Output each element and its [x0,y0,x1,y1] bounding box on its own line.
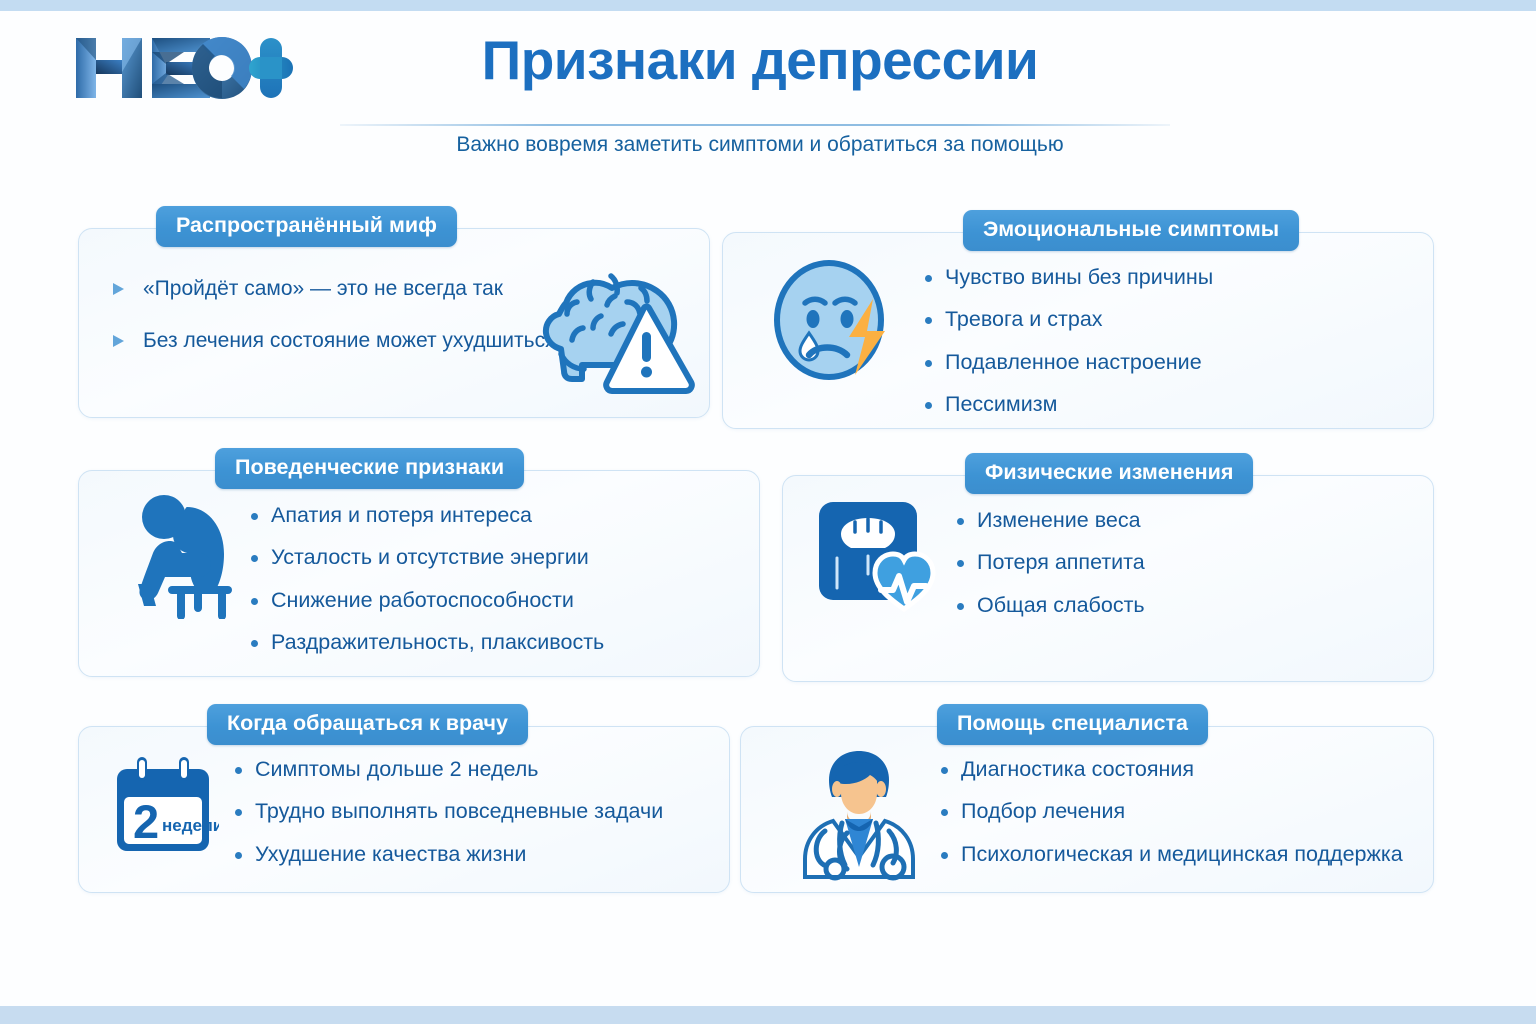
list-item: Пессимизм [923,392,1213,417]
list-item: Чувство вины без причины [923,265,1213,290]
card-physical-list: Изменение веса Потеря аппетита Общая сла… [955,508,1145,618]
list-item: Психологическая и медицинская поддержка [939,842,1403,867]
list-item: Изменение веса [955,508,1145,533]
weight-scale-heart-icon [815,498,943,622]
card-emotional: Эмоциональные симптомы Чувство вины без … [722,232,1434,429]
list-item: Симптомы дольше 2 недель [233,757,663,782]
neo-plus-logo [74,32,312,104]
list-item: Подавленное настроение [923,350,1213,375]
header-divider [340,124,1170,126]
card-specialist-help-title: Помощь специалиста [937,704,1208,745]
card-myth: Распространённый миф «Пройдёт само» — эт… [78,228,710,418]
card-emotional-title: Эмоциональные симптомы [963,210,1299,251]
card-when-to-see-doctor: Когда обращаться к врачу 2 недели Симпто… [78,726,730,893]
list-item: «Пройдёт само» — это не всегда так [113,277,556,302]
card-emotional-list: Чувство вины без причины Тревога и страх… [923,265,1213,417]
list-item: Диагностика состояния [939,757,1403,782]
list-item: Снижение работоспособности [249,588,604,613]
calendar-word: недели [162,816,219,835]
doctor-icon [789,745,929,881]
page-title: Признаки депрессии [360,28,1160,92]
card-physical-title: Физические изменения [965,453,1253,494]
list-item: Раздражительность, плаксивость [249,630,604,655]
list-item: Трудно выполнять повседневные задачи [233,799,663,824]
calendar-number: 2 [133,795,159,848]
card-myth-title: Распространённый миф [156,206,457,247]
brain-warning-icon [529,254,697,394]
list-item: Подбор лечения [939,799,1403,824]
infographic-canvas: Признаки депрессии Важно вовремя заметит… [0,0,1536,1024]
sitting-person-icon [124,484,249,619]
card-myth-list: «Пройдёт само» — это не всегда так Без л… [113,277,556,381]
card-specialist-help: Помощь специалиста Ди [740,726,1434,893]
list-item: Потеря аппетита [955,550,1145,575]
list-item: Апатия и потеря интереса [249,503,604,528]
card-when-to-see-doctor-title: Когда обращаться к врачу [207,704,528,745]
calendar-icon: 2 недели [107,755,219,861]
sad-face-lightning-icon [771,255,901,385]
card-behavioral-title: Поведенческие признаки [215,448,524,489]
list-item: Общая слабость [955,593,1145,618]
list-item: Без лечения состояние может ухудшиться [113,329,556,354]
card-physical: Физические изменения Изменение веса Поте… [782,475,1434,682]
card-behavioral: Поведенческие признаки Апатия и потеря и… [78,470,760,677]
card-when-to-see-doctor-list: Симптомы дольше 2 недель Трудно выполнят… [233,757,663,867]
list-item: Ухудшение качества жизни [233,842,663,867]
list-item: Усталость и отсутствие энергии [249,545,604,570]
card-behavioral-list: Апатия и потеря интереса Усталость и отс… [249,503,604,655]
list-item: Тревога и страх [923,307,1213,332]
page-subtitle: Важно вовремя заметить симптоми и обрати… [360,133,1160,157]
card-specialist-help-list: Диагностика состояния Подбор лечения Пси… [939,757,1403,867]
